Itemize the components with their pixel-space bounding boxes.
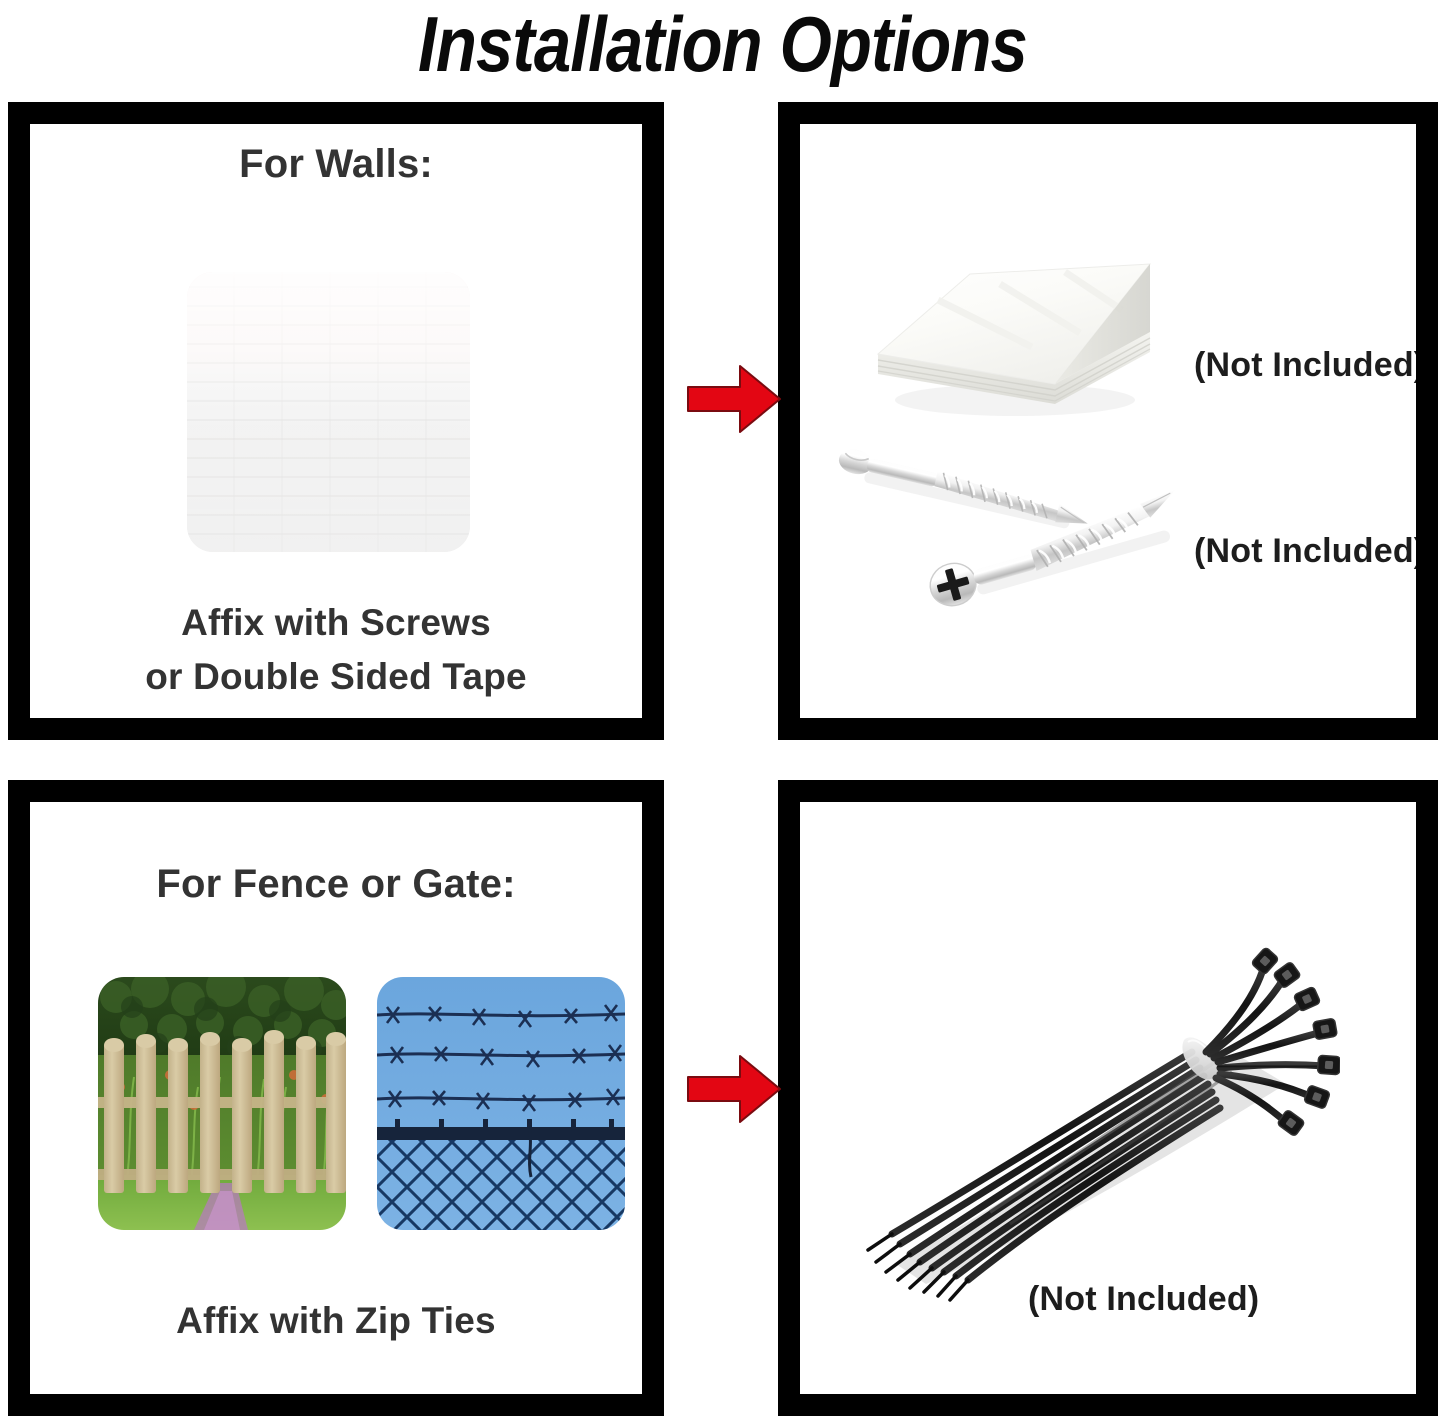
wood-screws-photo	[825, 444, 1205, 634]
screw-lower	[923, 490, 1190, 612]
screws-not-included-note: (Not Included)	[1194, 532, 1416, 571]
tape-not-included-note: (Not Included)	[1194, 346, 1416, 385]
panel-wall-hardware: (Not Included)	[778, 102, 1438, 740]
panel-for-fence-or-gate: For Fence or Gate:	[8, 780, 664, 1416]
page-title: Installation Options	[101, 0, 1344, 92]
brick-whitewash-overlay	[187, 272, 470, 552]
barbed-wire-chainlink-illustration	[377, 977, 625, 1230]
white-brick-wall-photo	[187, 272, 470, 552]
for-fence-or-gate-heading: For Fence or Gate:	[30, 862, 642, 907]
zip-ties-illustration	[840, 912, 1340, 1312]
zipties-not-included-note: (Not Included)	[1028, 1280, 1259, 1319]
wooden-picket-fence-photo	[98, 977, 346, 1230]
affix-with-screws-caption-line2: or Double Sided Tape	[30, 650, 642, 704]
red-right-arrow-glyph	[684, 360, 784, 438]
red-right-arrow-icon-bottom	[684, 1050, 784, 1128]
panel-wall-hardware-content: (Not Included)	[800, 124, 1416, 718]
black-zip-ties-bundle-photo	[840, 912, 1340, 1312]
panel-for-walls-content: For Walls: Affix with Screws or Double S…	[30, 124, 642, 718]
screw-upper	[835, 446, 1092, 533]
panel-fence-hardware-content: (Not Included)	[800, 802, 1416, 1394]
red-right-arrow-icon-top	[684, 360, 784, 438]
tape-stack-illustration	[860, 234, 1160, 434]
affix-with-screws-caption-line1: Affix with Screws	[30, 596, 642, 650]
picket-fence-illustration	[98, 977, 346, 1230]
panel-for-fence-content: For Fence or Gate:	[30, 802, 642, 1394]
panel-fence-hardware: (Not Included)	[778, 780, 1438, 1416]
affix-with-zip-ties-caption: Affix with Zip Ties	[30, 1294, 642, 1348]
for-walls-heading: For Walls:	[30, 142, 642, 187]
barbed-wire-chain-link-fence-photo	[377, 977, 625, 1230]
panel-for-walls: For Walls: Affix with Screws or Double S…	[8, 102, 664, 740]
red-right-arrow-glyph	[684, 1050, 784, 1128]
double-sided-tape-stack-photo	[860, 234, 1160, 434]
screws-illustration	[825, 444, 1205, 634]
